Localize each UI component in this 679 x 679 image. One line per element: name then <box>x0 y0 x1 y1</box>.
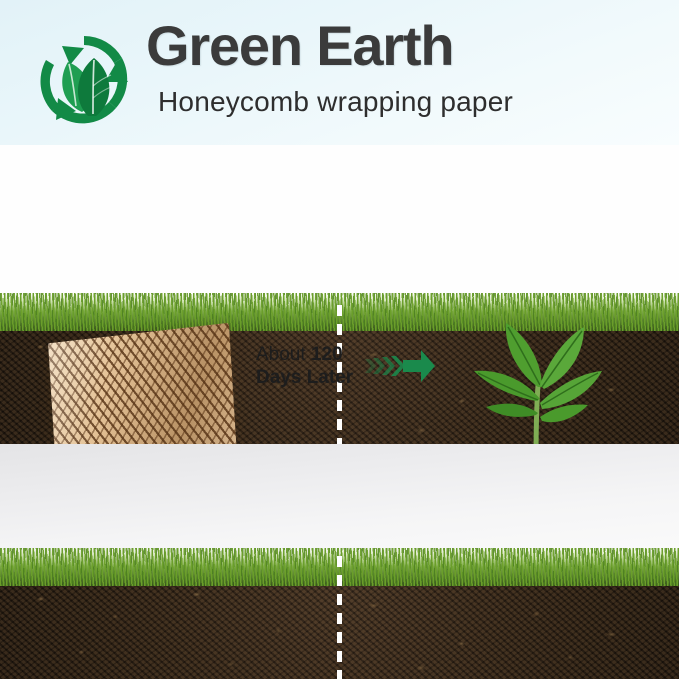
brand-text-block: Green Earth Honeycomb wrapping paper <box>146 18 666 116</box>
caption-top-prefix: About <box>256 344 311 365</box>
seedling-plant <box>452 315 632 444</box>
plastic-wrap-panel: About 120 Days Later <box>0 444 679 679</box>
product-infographic: Green Earth Honeycomb wrapping paper <box>0 0 679 679</box>
arrow-right-icon-top <box>365 349 435 383</box>
caption-top-days-value: 120 <box>311 344 343 365</box>
page-title: Green Earth <box>146 18 666 74</box>
sky-background-bottom <box>0 444 679 562</box>
caption-top: About 120 Days Later <box>256 343 435 389</box>
recycle-leaves-icon <box>32 28 136 132</box>
brand-header: Green Earth Honeycomb wrapping paper <box>0 0 679 145</box>
page-subtitle: Honeycomb wrapping paper <box>158 88 666 116</box>
caption-top-text: About 120 Days Later <box>256 343 353 389</box>
honeycomb-paper-panel: About 120 Days Later <box>0 145 679 444</box>
dashed-vertical-divider-bottom <box>337 556 342 679</box>
caption-top-line1: About 120 <box>256 343 353 366</box>
caption-top-line2: Days Later <box>256 366 353 389</box>
honeycomb-paper-sheet <box>48 323 238 444</box>
sky-background-top <box>0 145 679 315</box>
